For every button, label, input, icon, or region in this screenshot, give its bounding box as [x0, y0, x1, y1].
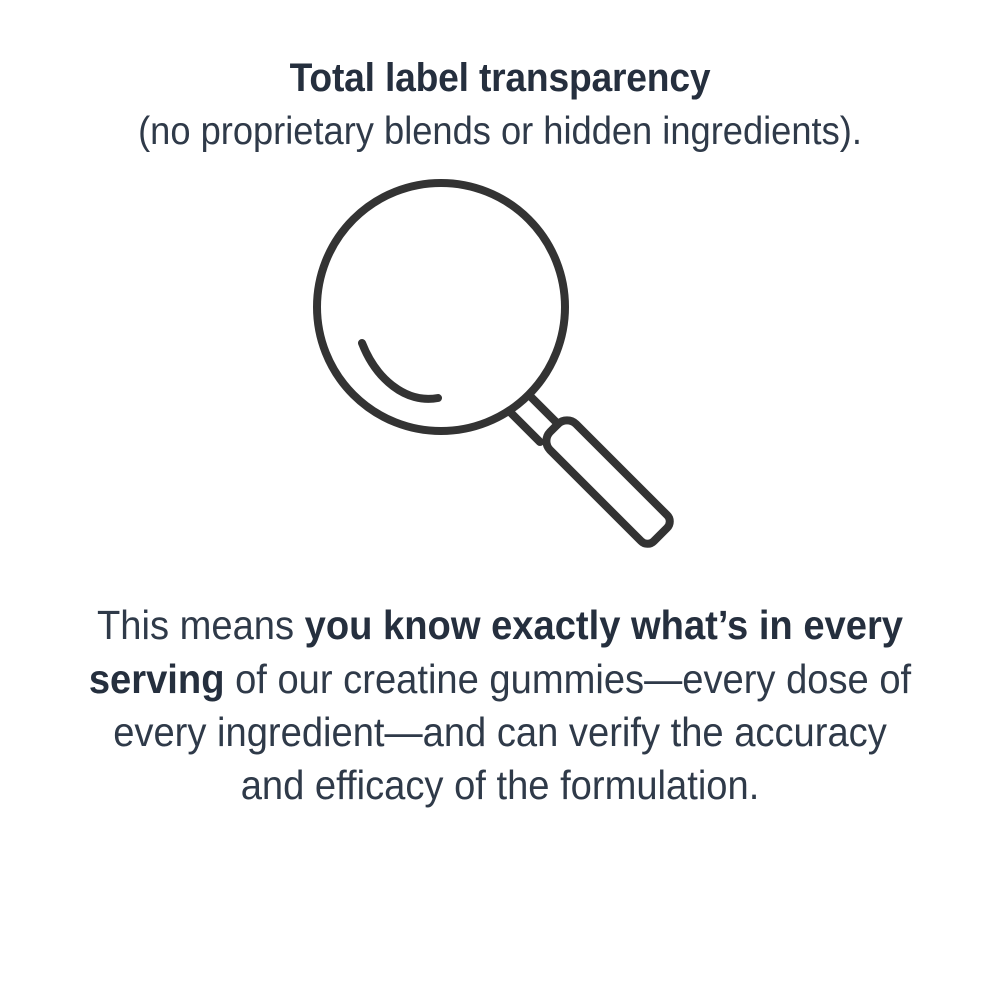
magnifier-shine-arc — [362, 343, 438, 399]
magnifier-neck — [529, 395, 558, 424]
page-subtitle: (no proprietary blends or hidden ingredi… — [91, 104, 909, 157]
transparency-info-card: Total label transparency (no proprietary… — [0, 0, 1000, 1000]
page-title: Total label transparency — [91, 52, 909, 104]
magnifier-handle — [546, 421, 669, 544]
body-segment-tail: of our creatine gummies—every dose of ev… — [113, 656, 911, 809]
body-block: This means you know exactly what’s in ev… — [50, 599, 950, 812]
icon-container — [290, 175, 710, 565]
heading-block: Total label transparency (no proprietary… — [60, 52, 940, 157]
magnifier-neck-2 — [511, 413, 540, 442]
body-paragraph: This means you know exactly what’s in ev… — [82, 599, 919, 812]
magnifying-glass-icon — [290, 175, 710, 565]
body-segment-lead: This means — [97, 602, 305, 648]
